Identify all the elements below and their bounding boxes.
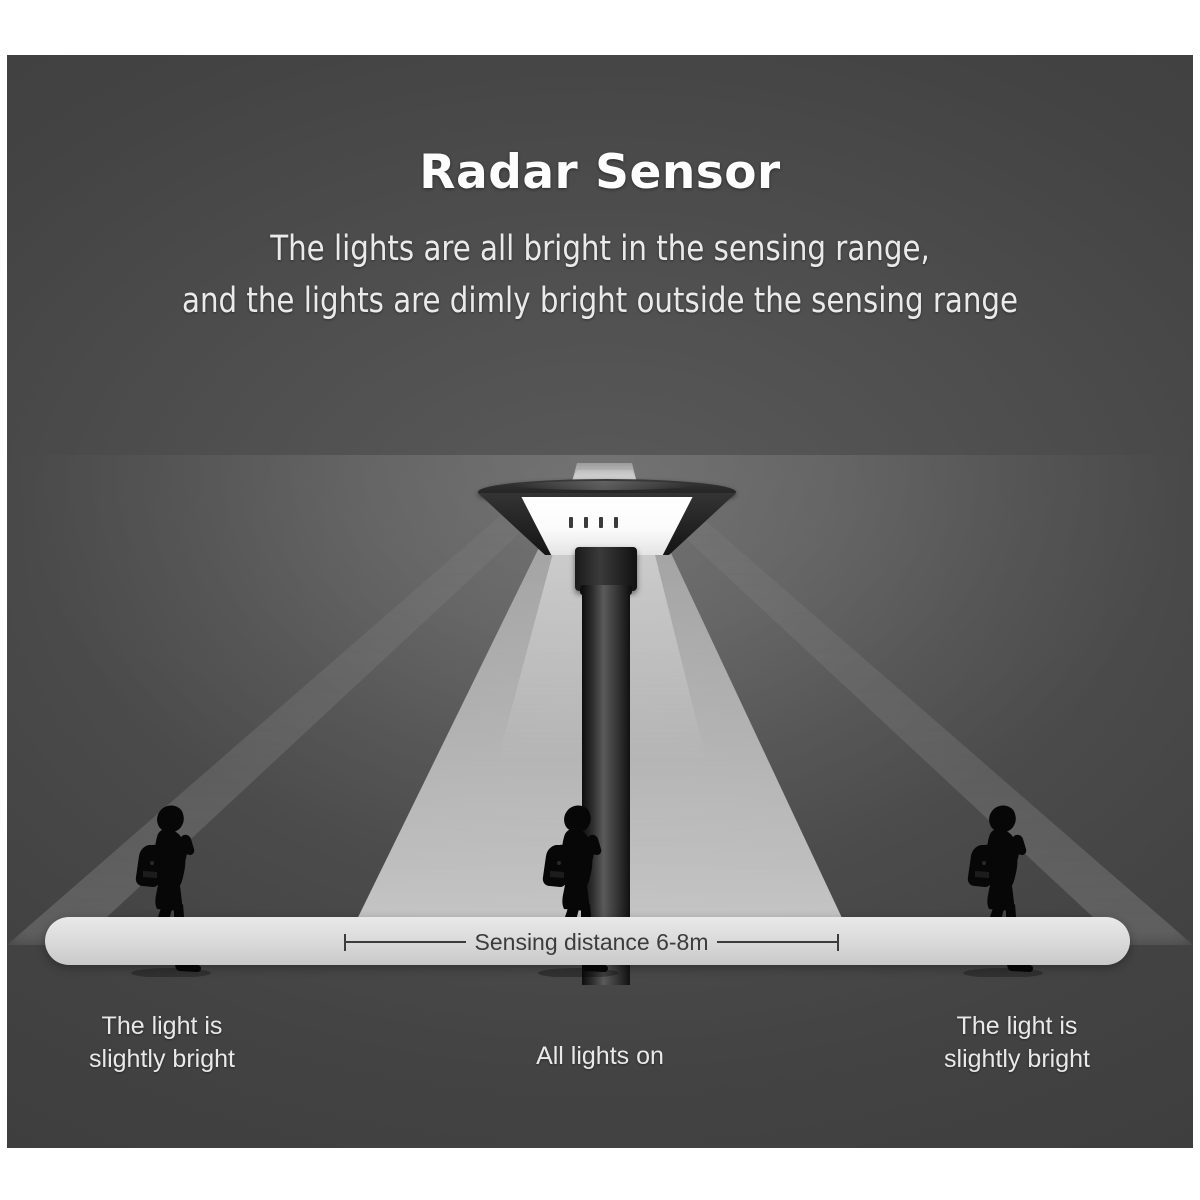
led-chip-icon (614, 517, 618, 528)
led-chip-icon (584, 517, 588, 528)
sensing-distance-measure: Sensing distance 6-8m (344, 929, 839, 955)
subtitle-line-2: and the lights are dimly bright outside … (49, 275, 1152, 327)
cut-off-footer-text (7, 1141, 1193, 1148)
measure-tick-right (837, 934, 839, 951)
caption-right-line-1: The light is (887, 1010, 1147, 1043)
disc-highlight (514, 481, 694, 490)
page-title: Radar Sensor (7, 145, 1193, 200)
caption-left: The light is slightly bright (37, 1010, 287, 1076)
caption-left-line-1: The light is (37, 1010, 287, 1043)
measure-rule-left (346, 941, 466, 943)
caption-left-line-2: slightly bright (37, 1043, 287, 1076)
product-illustration-scene: Radar Sensor The lights are all bright i… (7, 55, 1193, 1148)
led-chip-icon (599, 517, 603, 528)
page-subtitle: The lights are all bright in the sensing… (49, 223, 1152, 327)
subtitle-line-1: The lights are all bright in the sensing… (49, 223, 1152, 275)
page-root: Radar Sensor The lights are all bright i… (0, 0, 1200, 1200)
led-chip-icon (569, 517, 573, 528)
caption-right-line-2: slightly bright (887, 1043, 1147, 1076)
caption-right: The light is slightly bright (887, 1010, 1147, 1076)
caption-center: All lights on (445, 1040, 755, 1073)
sensing-distance-label: Sensing distance 6-8m (466, 929, 718, 956)
measure-rule-right (717, 941, 837, 943)
